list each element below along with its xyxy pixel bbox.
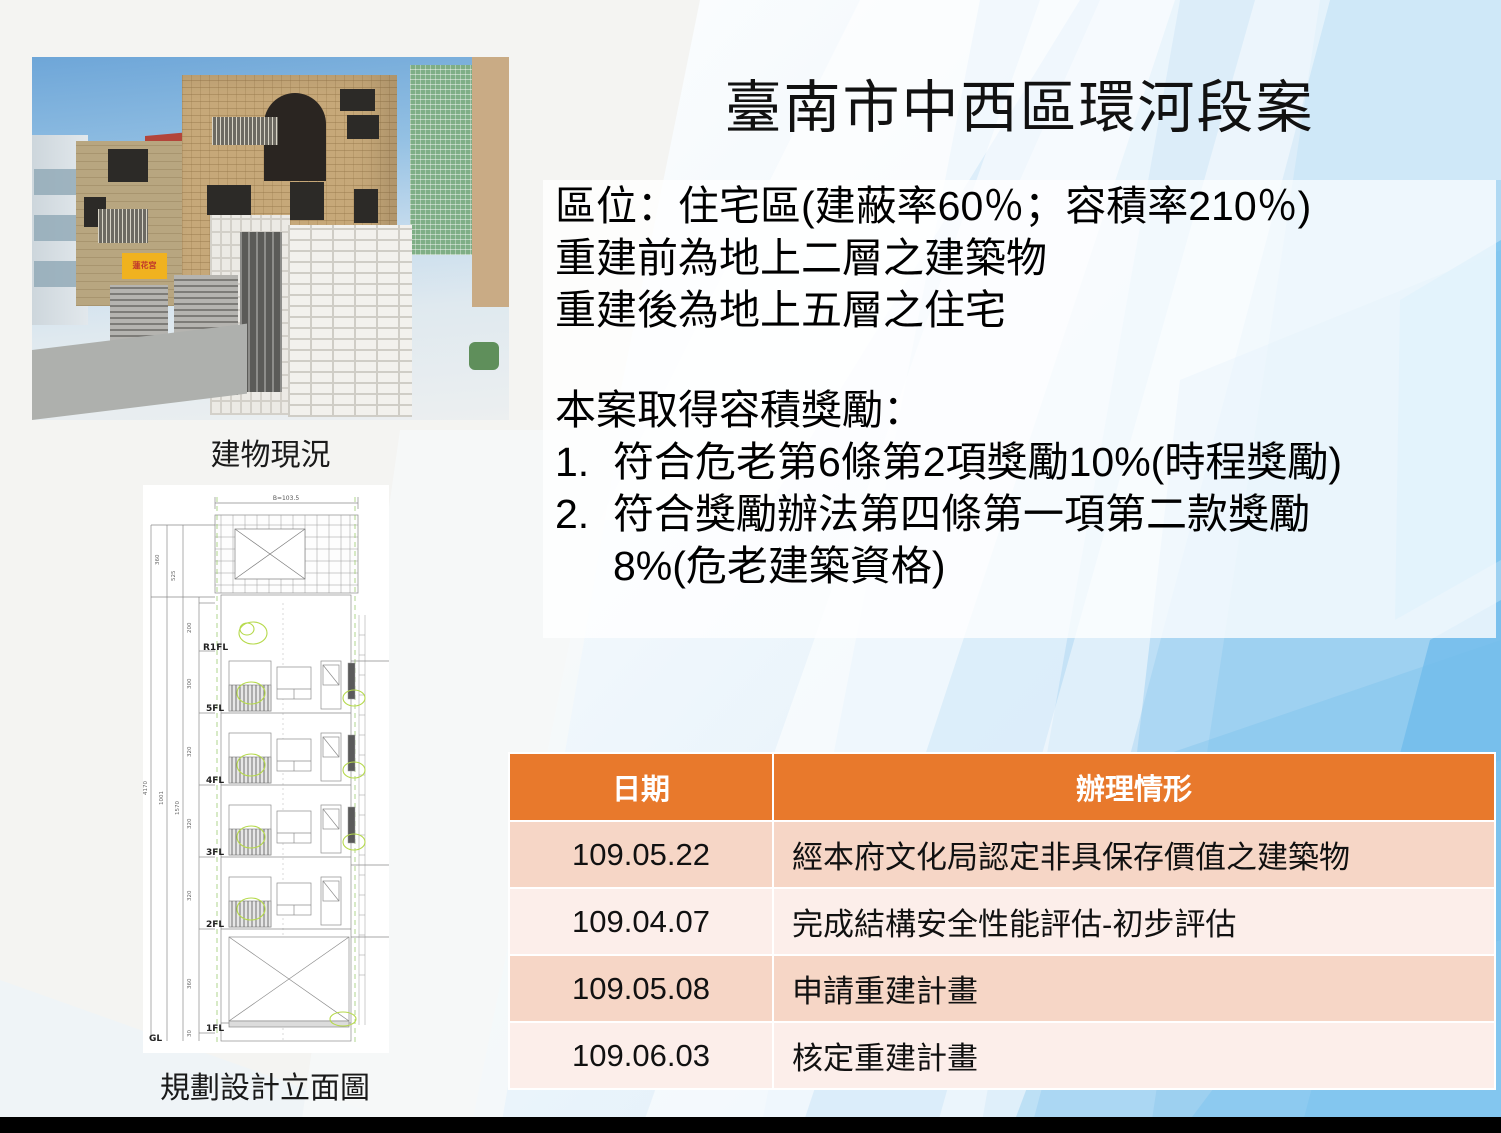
table-cell-date: 109.05.22 [510, 822, 772, 887]
svg-text:360: 360 [187, 978, 193, 989]
photo-tile-wall-right [288, 225, 412, 417]
svg-text:4170: 4170 [143, 781, 149, 795]
svg-text:320: 320 [187, 890, 193, 901]
photo-window-upper-right [347, 115, 379, 139]
floor-label-5fl: 5FL [206, 704, 224, 714]
photo-window-grille-upper [212, 117, 278, 145]
info-line-after: 重建後為地上五層之住宅 [543, 284, 1496, 336]
table-cell-date: 109.05.08 [510, 956, 772, 1021]
photo-window-ac [340, 89, 375, 111]
photo-window-mid-1 [207, 185, 251, 215]
table-row: 109.06.03 核定重建計畫 [510, 1023, 1494, 1088]
list-item: 1. 符合危老第6條第2項獎勵10%(時程獎勵) [555, 436, 1496, 488]
photo-right-wall [472, 57, 509, 307]
info-spacer [543, 336, 1496, 384]
svg-text:B=103.5: B=103.5 [273, 495, 300, 502]
photo-window-mid-3 [354, 189, 378, 223]
floor-label-3fl: 3FL [206, 848, 224, 858]
photo-yellow-sign: 蓮花宮 [122, 253, 167, 279]
photo-caption: 建物現況 [32, 430, 509, 474]
list-item-text-cont: 8%(危老建築資格) [613, 540, 1310, 592]
list-item-text: 符合獎勵辦法第四條第一項第二款獎勵 [613, 488, 1310, 540]
list-item: 2. 符合獎勵辦法第四條第一項第二款獎勵 8%(危老建築資格) [555, 488, 1496, 592]
table-cell-desc: 申請重建計畫 [774, 956, 1494, 1021]
svg-text:1570: 1570 [175, 801, 181, 815]
floor-label-gl: GL [149, 1034, 162, 1044]
table-header-row: 日期 辦理情形 [510, 754, 1494, 820]
floor-label-2fl: 2FL [206, 920, 224, 930]
info-incentive-list: 1. 符合危老第6條第2項獎勵10%(時程獎勵) 2. 符合獎勵辦法第四條第一項… [543, 436, 1496, 592]
photo-balcony-2 [34, 215, 82, 241]
info-line-before: 重建前為地上二層之建築物 [543, 232, 1496, 284]
info-incentive-heading: 本案取得容積獎勵： [543, 384, 1496, 436]
floor-label-4fl: 4FL [206, 776, 224, 786]
info-line-zoning: 區位：住宅區(建蔽率60％；容積率210％) [543, 180, 1496, 232]
project-info-box: 區位：住宅區(建蔽率60％；容積率210％) 重建前為地上二層之建築物 重建後為… [543, 180, 1496, 638]
table-row: 109.05.22 經本府文化局認定非具保存價值之建築物 [510, 822, 1494, 887]
table-cell-desc: 完成結構安全性能評估-初步評估 [774, 889, 1494, 954]
photo-balcony-1 [34, 169, 82, 195]
svg-text:200: 200 [187, 622, 193, 633]
table-cell-date: 109.04.07 [510, 889, 772, 954]
process-table: 日期 辦理情形 109.05.22 經本府文化局認定非具保存價值之建築物 109… [508, 752, 1496, 1090]
photo-window-left-upper [108, 149, 148, 182]
drawing-caption: 規劃設計立面圖 [100, 1063, 430, 1107]
svg-text:525: 525 [171, 570, 177, 581]
svg-text:360: 360 [155, 554, 161, 565]
svg-text:30: 30 [187, 1030, 193, 1037]
svg-text:1001: 1001 [159, 791, 165, 805]
page-title: 臺南市中西區環河段案 [543, 62, 1496, 144]
building-current-photo: 蓮花宮 [32, 57, 509, 420]
photo-window-mid-2 [290, 182, 324, 220]
photo-window-grille-left [98, 209, 148, 243]
photo-green-object [469, 342, 499, 370]
list-item-number: 1. [555, 436, 613, 488]
list-item-number: 2. [555, 488, 613, 592]
table-cell-desc: 經本府文化局認定非具保存價值之建築物 [774, 822, 1494, 887]
svg-text:320: 320 [187, 746, 193, 757]
photo-balcony-3 [34, 261, 82, 287]
svg-text:300: 300 [187, 678, 193, 689]
table-cell-desc: 核定重建計畫 [774, 1023, 1494, 1088]
bottom-bar [0, 1117, 1501, 1133]
elevation-drawing-svg: B=103.5 [143, 485, 389, 1053]
floor-label-1fl: 1FL [206, 1024, 224, 1034]
table-header-date: 日期 [510, 754, 772, 820]
list-item-text: 符合危老第6條第2項獎勵10%(時程獎勵) [613, 436, 1342, 488]
floor-label-r1fl: R1FL [203, 643, 228, 653]
table-header-status: 辦理情形 [774, 754, 1494, 820]
elevation-drawing: B=103.5 [143, 485, 389, 1053]
svg-text:320: 320 [187, 818, 193, 829]
table-row: 109.05.08 申請重建計畫 [510, 956, 1494, 1021]
slide-root: 臺南市中西區環河段案 蓮花宮 建物現況 [0, 0, 1501, 1133]
photo-sign-text: 蓮花宮 [122, 253, 167, 279]
table-row: 109.04.07 完成結構安全性能評估-初步評估 [510, 889, 1494, 954]
table-cell-date: 109.06.03 [510, 1023, 772, 1088]
